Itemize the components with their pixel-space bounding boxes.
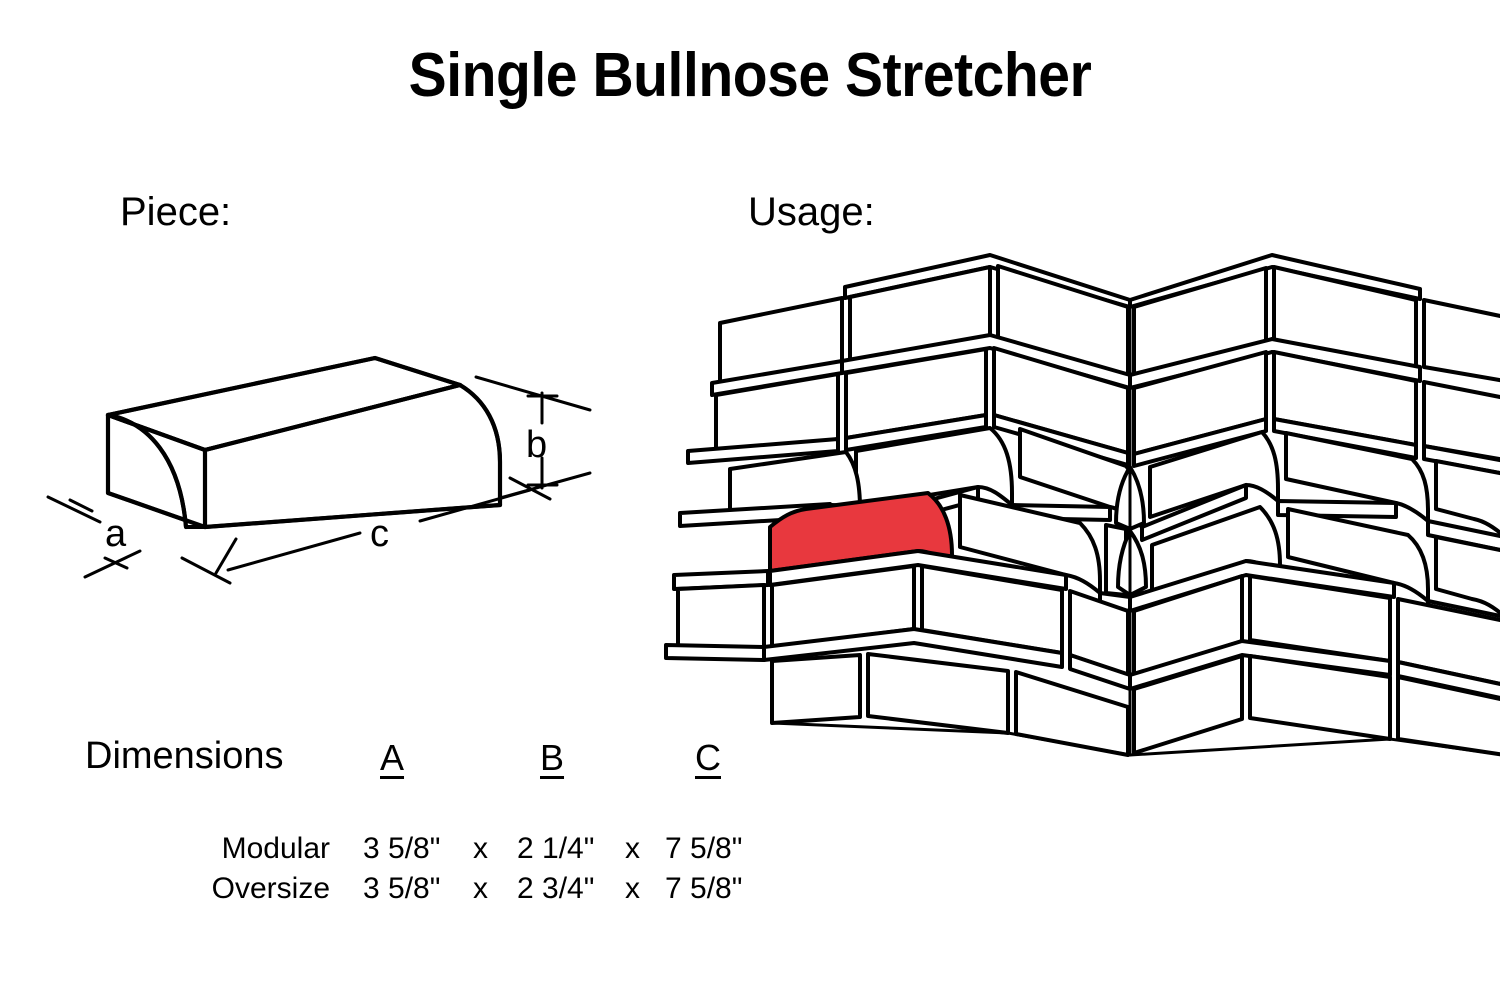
dimensions-table: Dimensions A B C Modular 3 5/8" x 2 1/4"… xyxy=(85,735,825,912)
usage-diagram xyxy=(660,255,1500,755)
page-title: Single Bullnose Stretcher xyxy=(60,40,1440,111)
dim-a-label: a xyxy=(105,513,127,555)
separator-oversize-2: x xyxy=(625,872,640,906)
dim-b-extension-top xyxy=(476,377,590,410)
piece-diagram: a c b xyxy=(30,330,630,620)
dim-c-line-left xyxy=(228,533,360,570)
piece-section-label: Piece: xyxy=(120,190,231,235)
cell-modular-b: 2 1/4" xyxy=(517,832,594,866)
dim-c-label: c xyxy=(370,513,389,555)
separator-oversize-1: x xyxy=(473,872,488,906)
dim-b-label: b xyxy=(526,424,547,466)
dimensions-header-row: Dimensions A B C xyxy=(85,735,825,787)
dimensions-title: Dimensions xyxy=(85,735,284,778)
usage-section-label: Usage: xyxy=(748,190,875,235)
column-header-c: C xyxy=(695,737,721,779)
separator-modular-1: x xyxy=(473,832,488,866)
cell-oversize-c: 7 5/8" xyxy=(665,872,742,906)
cell-modular-a: 3 5/8" xyxy=(363,832,440,866)
separator-modular-2: x xyxy=(625,832,640,866)
brick-R1-c xyxy=(1424,300,1500,381)
cell-oversize-a: 3 5/8" xyxy=(363,872,440,906)
brick-L5-a xyxy=(678,585,764,651)
brick-deck-L6a xyxy=(666,645,764,660)
column-header-a: A xyxy=(380,737,404,779)
table-row: Modular 3 5/8" x 2 1/4" x 7 5/8" xyxy=(85,832,825,872)
cell-oversize-b: 2 3/4" xyxy=(517,872,594,906)
row-label-oversize: Oversize xyxy=(190,872,330,906)
row-label-modular: Modular xyxy=(190,832,330,866)
cell-modular-c: 7 5/8" xyxy=(665,832,742,866)
table-row: Oversize 3 5/8" x 2 3/4" x 7 5/8" xyxy=(85,872,825,912)
brick-L6-a xyxy=(772,655,860,723)
column-header-b: B xyxy=(540,737,564,779)
brick-L6-b xyxy=(868,654,1008,733)
